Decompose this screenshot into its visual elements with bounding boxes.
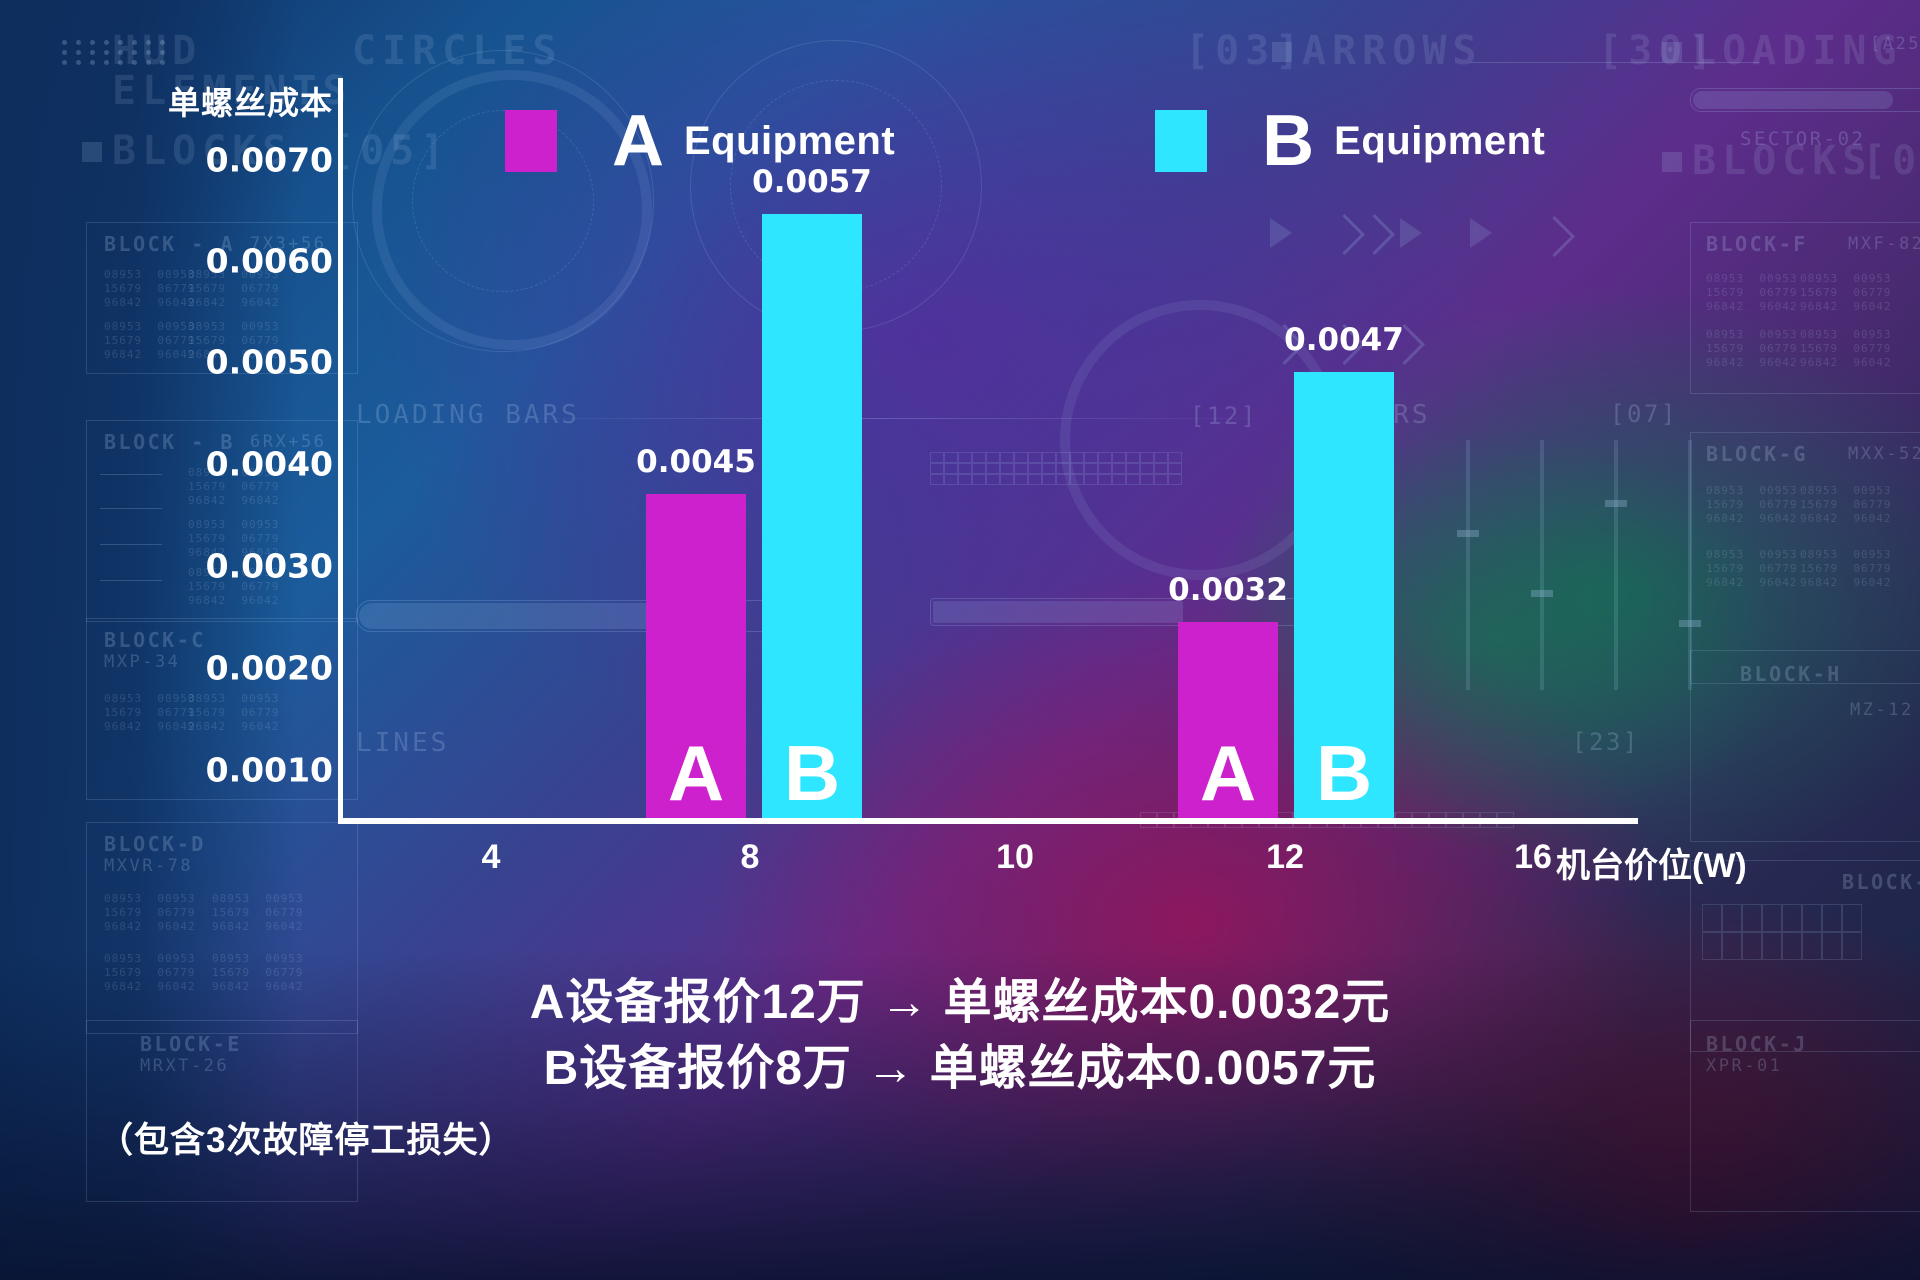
x-axis-title: 机台价位(W) (1556, 838, 1747, 887)
y-tick-5: 0.0020 (118, 649, 333, 688)
legend-text-a: Equipment (684, 119, 895, 164)
bar-a-group-12[interactable]: 0.0032 A (1178, 622, 1278, 818)
bar-a-group-8[interactable]: 0.0045 A (646, 494, 746, 818)
y-tick-4: 0.0030 (118, 547, 333, 586)
y-tick-2: 0.0050 (118, 343, 333, 382)
summary-line-1: A设备报价12万 → 单螺丝成本0.0032元 (0, 962, 1920, 1032)
x-tick-4: 4 (482, 838, 501, 877)
legend-letter-a: A (612, 105, 664, 177)
y-tick-3: 0.0040 (118, 445, 333, 484)
y-tick-6: 0.0010 (118, 751, 333, 790)
bar-value-label: 0.0032 (1168, 572, 1288, 608)
chart-legend: A Equipment B Equipment (505, 105, 1545, 177)
legend-text-b: Equipment (1334, 119, 1545, 164)
x-tick-8: 8 (741, 838, 760, 877)
x-axis-line (338, 818, 1638, 824)
x-tick-12: 12 (1266, 838, 1304, 877)
bar-letter-b: B (784, 734, 840, 812)
bar-letter-a: A (1200, 734, 1256, 812)
bar-b-group-12[interactable]: 0.0047 B (1294, 372, 1394, 818)
bar-b-group-8[interactable]: 0.0057 B (762, 214, 862, 818)
bar-value-label: 0.0045 (636, 444, 756, 480)
x-tick-16: 16 (1514, 838, 1552, 877)
y-axis-title: 单螺丝成本 (118, 78, 333, 124)
x-tick-10: 10 (996, 838, 1034, 877)
legend-letter-b: B (1262, 105, 1314, 177)
bar-letter-a: A (668, 734, 724, 812)
y-tick-0: 0.0070 (118, 141, 333, 180)
legend-swatch-a-icon (505, 110, 557, 172)
infographic-canvas: HUD ELEMENTS BLOCKS [05] CIRCLES [03] AR… (0, 0, 1920, 1280)
legend-swatch-b-icon (1155, 110, 1207, 172)
bars-layer: 0.0045 A 0.0057 B 0.0032 A 0.0047 B (338, 78, 1638, 818)
footnote-text: （包含3次故障停工损失） (98, 1112, 514, 1163)
summary-line-2: B设备报价8万 → 单螺丝成本0.0057元 (0, 1028, 1920, 1098)
bar-letter-b: B (1316, 734, 1372, 812)
legend-item-a[interactable]: A Equipment (505, 105, 895, 177)
bar-value-label: 0.0047 (1284, 322, 1404, 358)
legend-item-b[interactable]: B Equipment (1155, 105, 1545, 177)
y-tick-1: 0.0060 (118, 242, 333, 281)
